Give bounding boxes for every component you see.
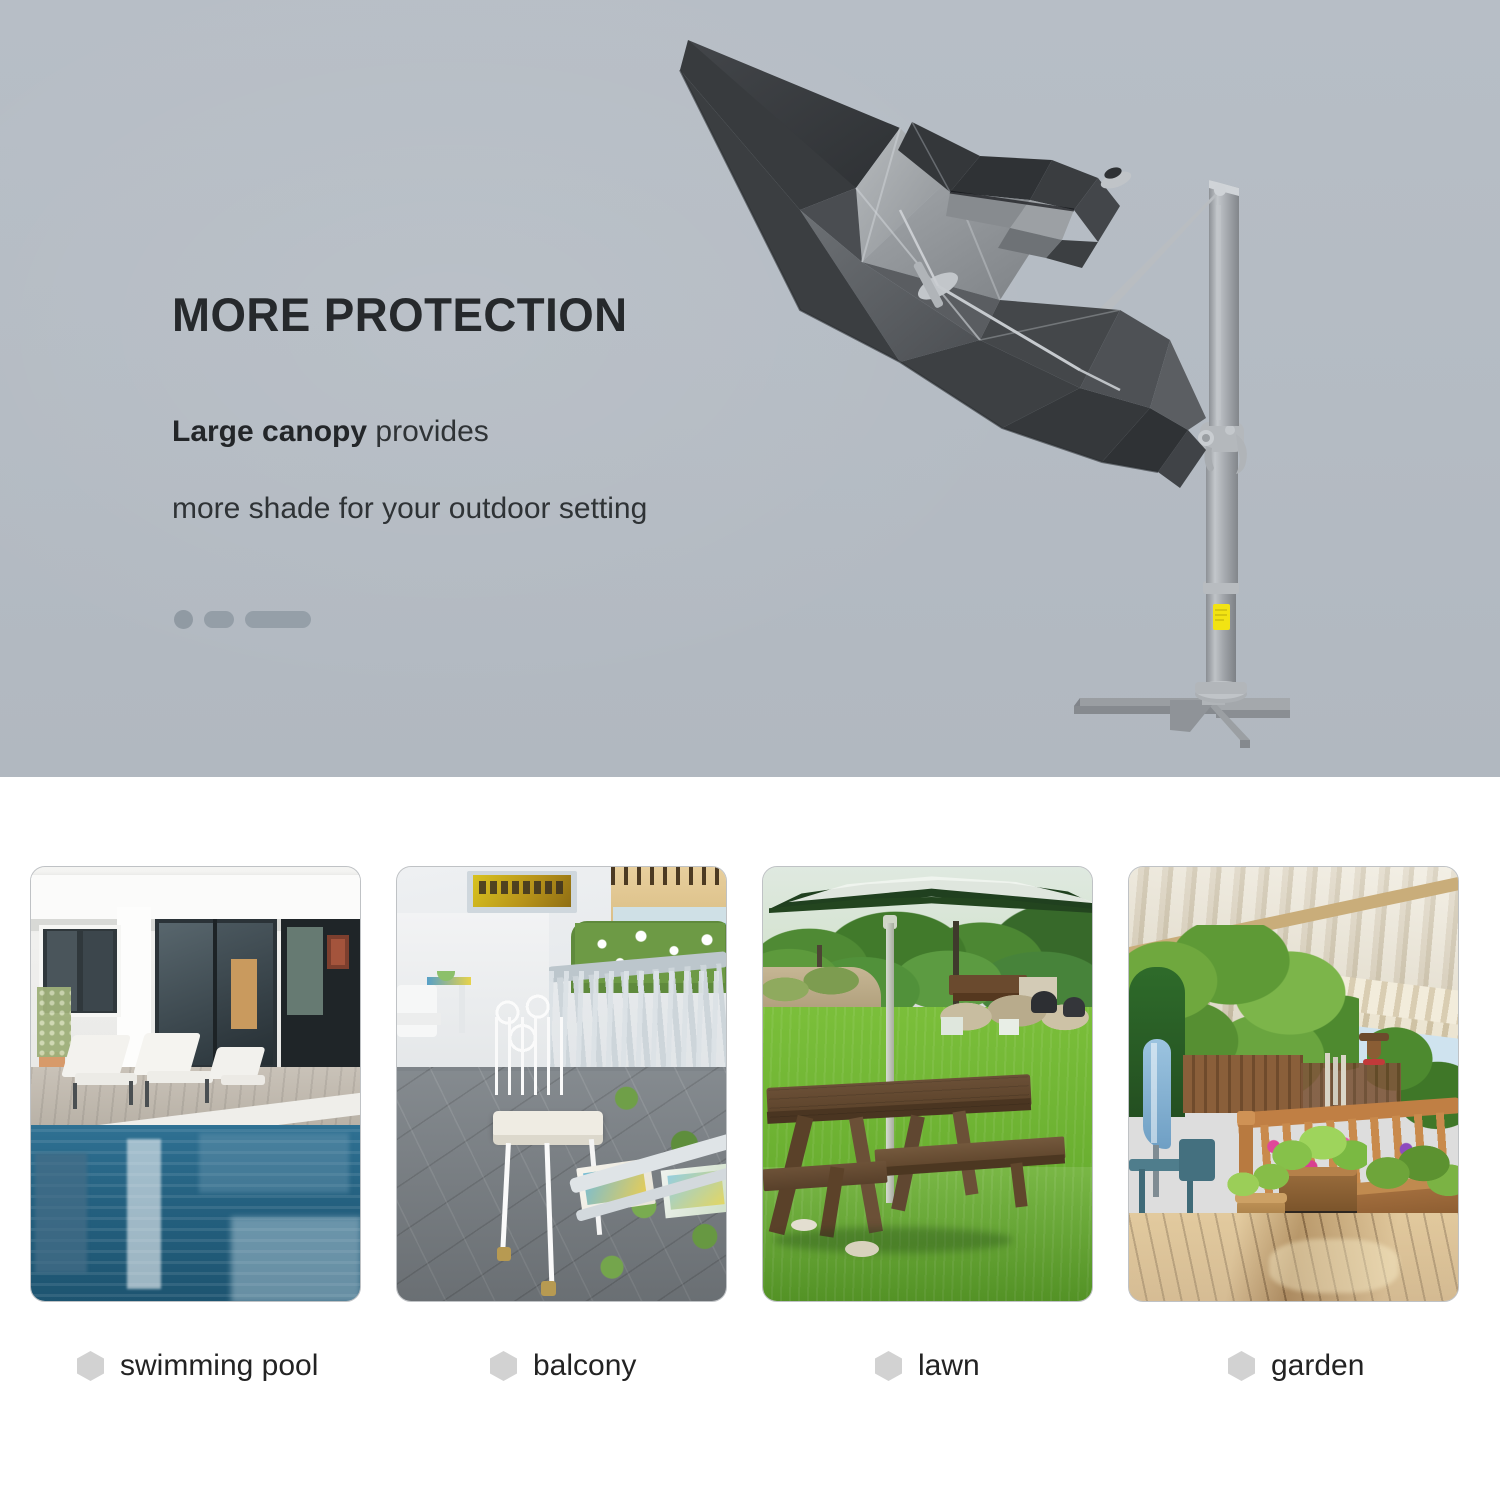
pill-long	[245, 611, 311, 628]
mediterranean-balcony-photo	[397, 867, 726, 1301]
poolside-modern-house-photo	[31, 867, 360, 1301]
caption-garden: garden	[1228, 1336, 1364, 1396]
hero-subtitle-emphasis: Large canopy	[172, 415, 367, 448]
scene-card-balcony[interactable]	[396, 866, 727, 1302]
caption-label: garden	[1271, 1351, 1364, 1381]
scene-card-garden[interactable]	[1128, 866, 1459, 1302]
scene-card-lawn[interactable]	[762, 866, 1093, 1302]
scene-card-swimming-pool[interactable]	[30, 866, 361, 1302]
caption-swimming-pool: swimming pool	[77, 1336, 318, 1396]
lawn-picnic-table-photo	[763, 867, 1092, 1301]
progress-pills-icon	[174, 610, 311, 629]
umbrella-cross-base	[1074, 694, 1290, 748]
caption-label: balcony	[533, 1351, 636, 1381]
umbrella-upper-mast	[1209, 180, 1239, 426]
pill-small	[204, 611, 234, 628]
caption-balcony: balcony	[490, 1336, 636, 1396]
hexagon-bullet-icon	[77, 1351, 104, 1381]
hero-panel: MORE PROTECTION Large canopy provides mo…	[0, 0, 1500, 777]
hexagon-bullet-icon	[1228, 1351, 1255, 1381]
hexagon-bullet-icon	[490, 1351, 517, 1381]
warning-label	[1213, 604, 1230, 630]
scene-caption-row: swimming pool balcony lawn garden	[0, 1336, 1500, 1416]
product-feature-page: MORE PROTECTION Large canopy provides mo…	[0, 0, 1500, 1500]
umbrella-main-canopy	[680, 40, 1206, 472]
caption-label: lawn	[918, 1351, 980, 1381]
cantilever-patio-umbrella-image	[650, 10, 1290, 750]
garden-deck-awning-photo	[1129, 867, 1458, 1301]
hero-subtitle-rest: provides	[367, 415, 489, 448]
umbrella-pole	[1195, 440, 1247, 703]
usage-scene-gallery	[0, 866, 1500, 1306]
hexagon-bullet-icon	[875, 1351, 902, 1381]
caption-label: swimming pool	[120, 1351, 318, 1381]
pill-dot	[174, 610, 193, 629]
caption-lawn: lawn	[875, 1336, 980, 1396]
